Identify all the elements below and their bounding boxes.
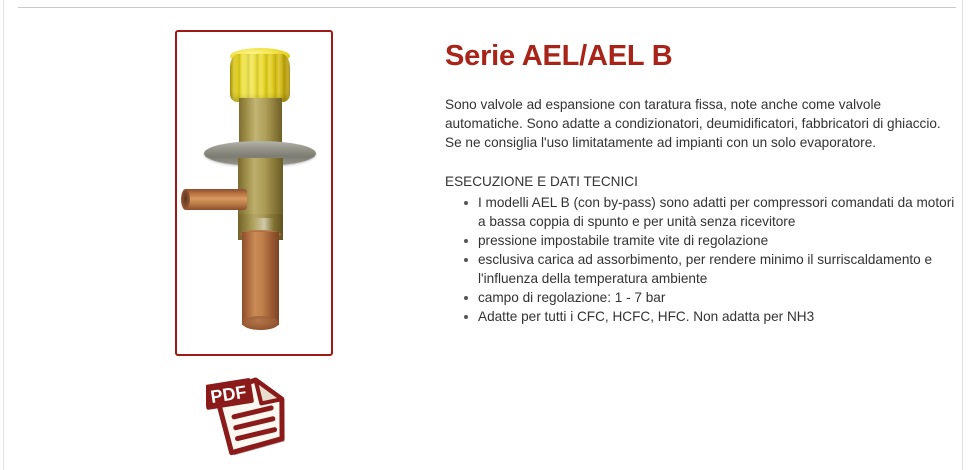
list-item: I modelli AEL B (con by-pass) sono adatt… [478,193,957,231]
valve-yellow-cap [230,54,290,102]
page-frame: PDF Serie AEL/AEL B Sono valvole ad espa… [3,0,963,470]
specs-heading: ESECUZIONE E DATI TECNICI [445,172,957,191]
product-image-frame[interactable] [175,30,333,356]
product-description-column: Serie AEL/AEL B Sono valvole ad espansio… [445,40,957,326]
product-media-column: PDF [175,30,333,356]
list-item: pressione impostabile tramite vite di re… [478,231,957,250]
specs-list: I modelli AEL B (con by-pass) sono adatt… [445,193,957,326]
list-item: Adatte per tutti i CFC, HCFC, HFC. Non a… [478,307,957,326]
page-title: Serie AEL/AEL B [445,40,957,73]
valve-outlet-copper-tube [242,232,279,325]
list-item: esclusiva carica ad assorbimento, per re… [478,250,957,288]
list-item: campo di regolazione: 1 - 7 bar [478,288,957,307]
valve-side-tube-opening [181,189,190,210]
product-photo-valve [177,32,331,354]
header-divider [18,7,956,8]
product-intro-paragraph: Sono valvole ad espansione con taratura … [445,95,957,152]
pdf-document-icon: PDF [206,374,298,456]
valve-outlet-tube-end [242,316,279,330]
valve-side-copper-tube [183,189,247,210]
pdf-download-link[interactable]: PDF [206,374,298,456]
